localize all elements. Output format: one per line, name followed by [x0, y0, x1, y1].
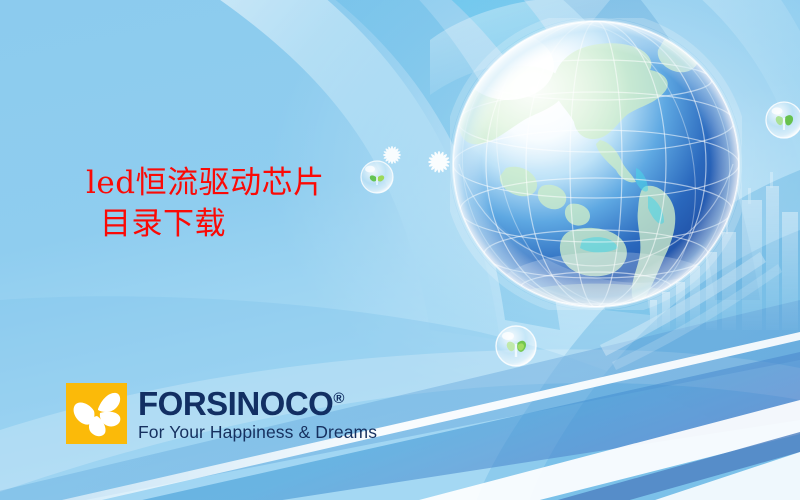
registered-trademark-icon: ® — [333, 390, 344, 407]
logo-text-block: FORSINOCO® For Your Happiness & Dreams — [138, 383, 377, 442]
brand-logo: FORSINOCO® For Your Happiness & Dreams — [66, 383, 377, 444]
sparkle-flower-icon — [424, 147, 454, 177]
bubble-sprout-icon — [764, 100, 800, 140]
headline-line-2: 目录下载 — [86, 204, 416, 245]
logo-wordmark: FORSINOCO® — [138, 387, 377, 420]
logo-tagline: For Your Happiness & Dreams — [138, 424, 377, 442]
headline-line-1: led恒流驱动芯片 — [86, 163, 416, 204]
page-title: led恒流驱动芯片 目录下载 — [86, 163, 416, 245]
four-petal-pinwheel-icon — [66, 383, 127, 444]
bubble-sprout-icon — [494, 324, 538, 368]
globe-icon — [450, 18, 742, 310]
logo-wordmark-text: FORSINOCO — [138, 385, 333, 422]
poster-canvas: led恒流驱动芯片 目录下载 FORSINOCO® For Your Ha — [0, 0, 800, 500]
